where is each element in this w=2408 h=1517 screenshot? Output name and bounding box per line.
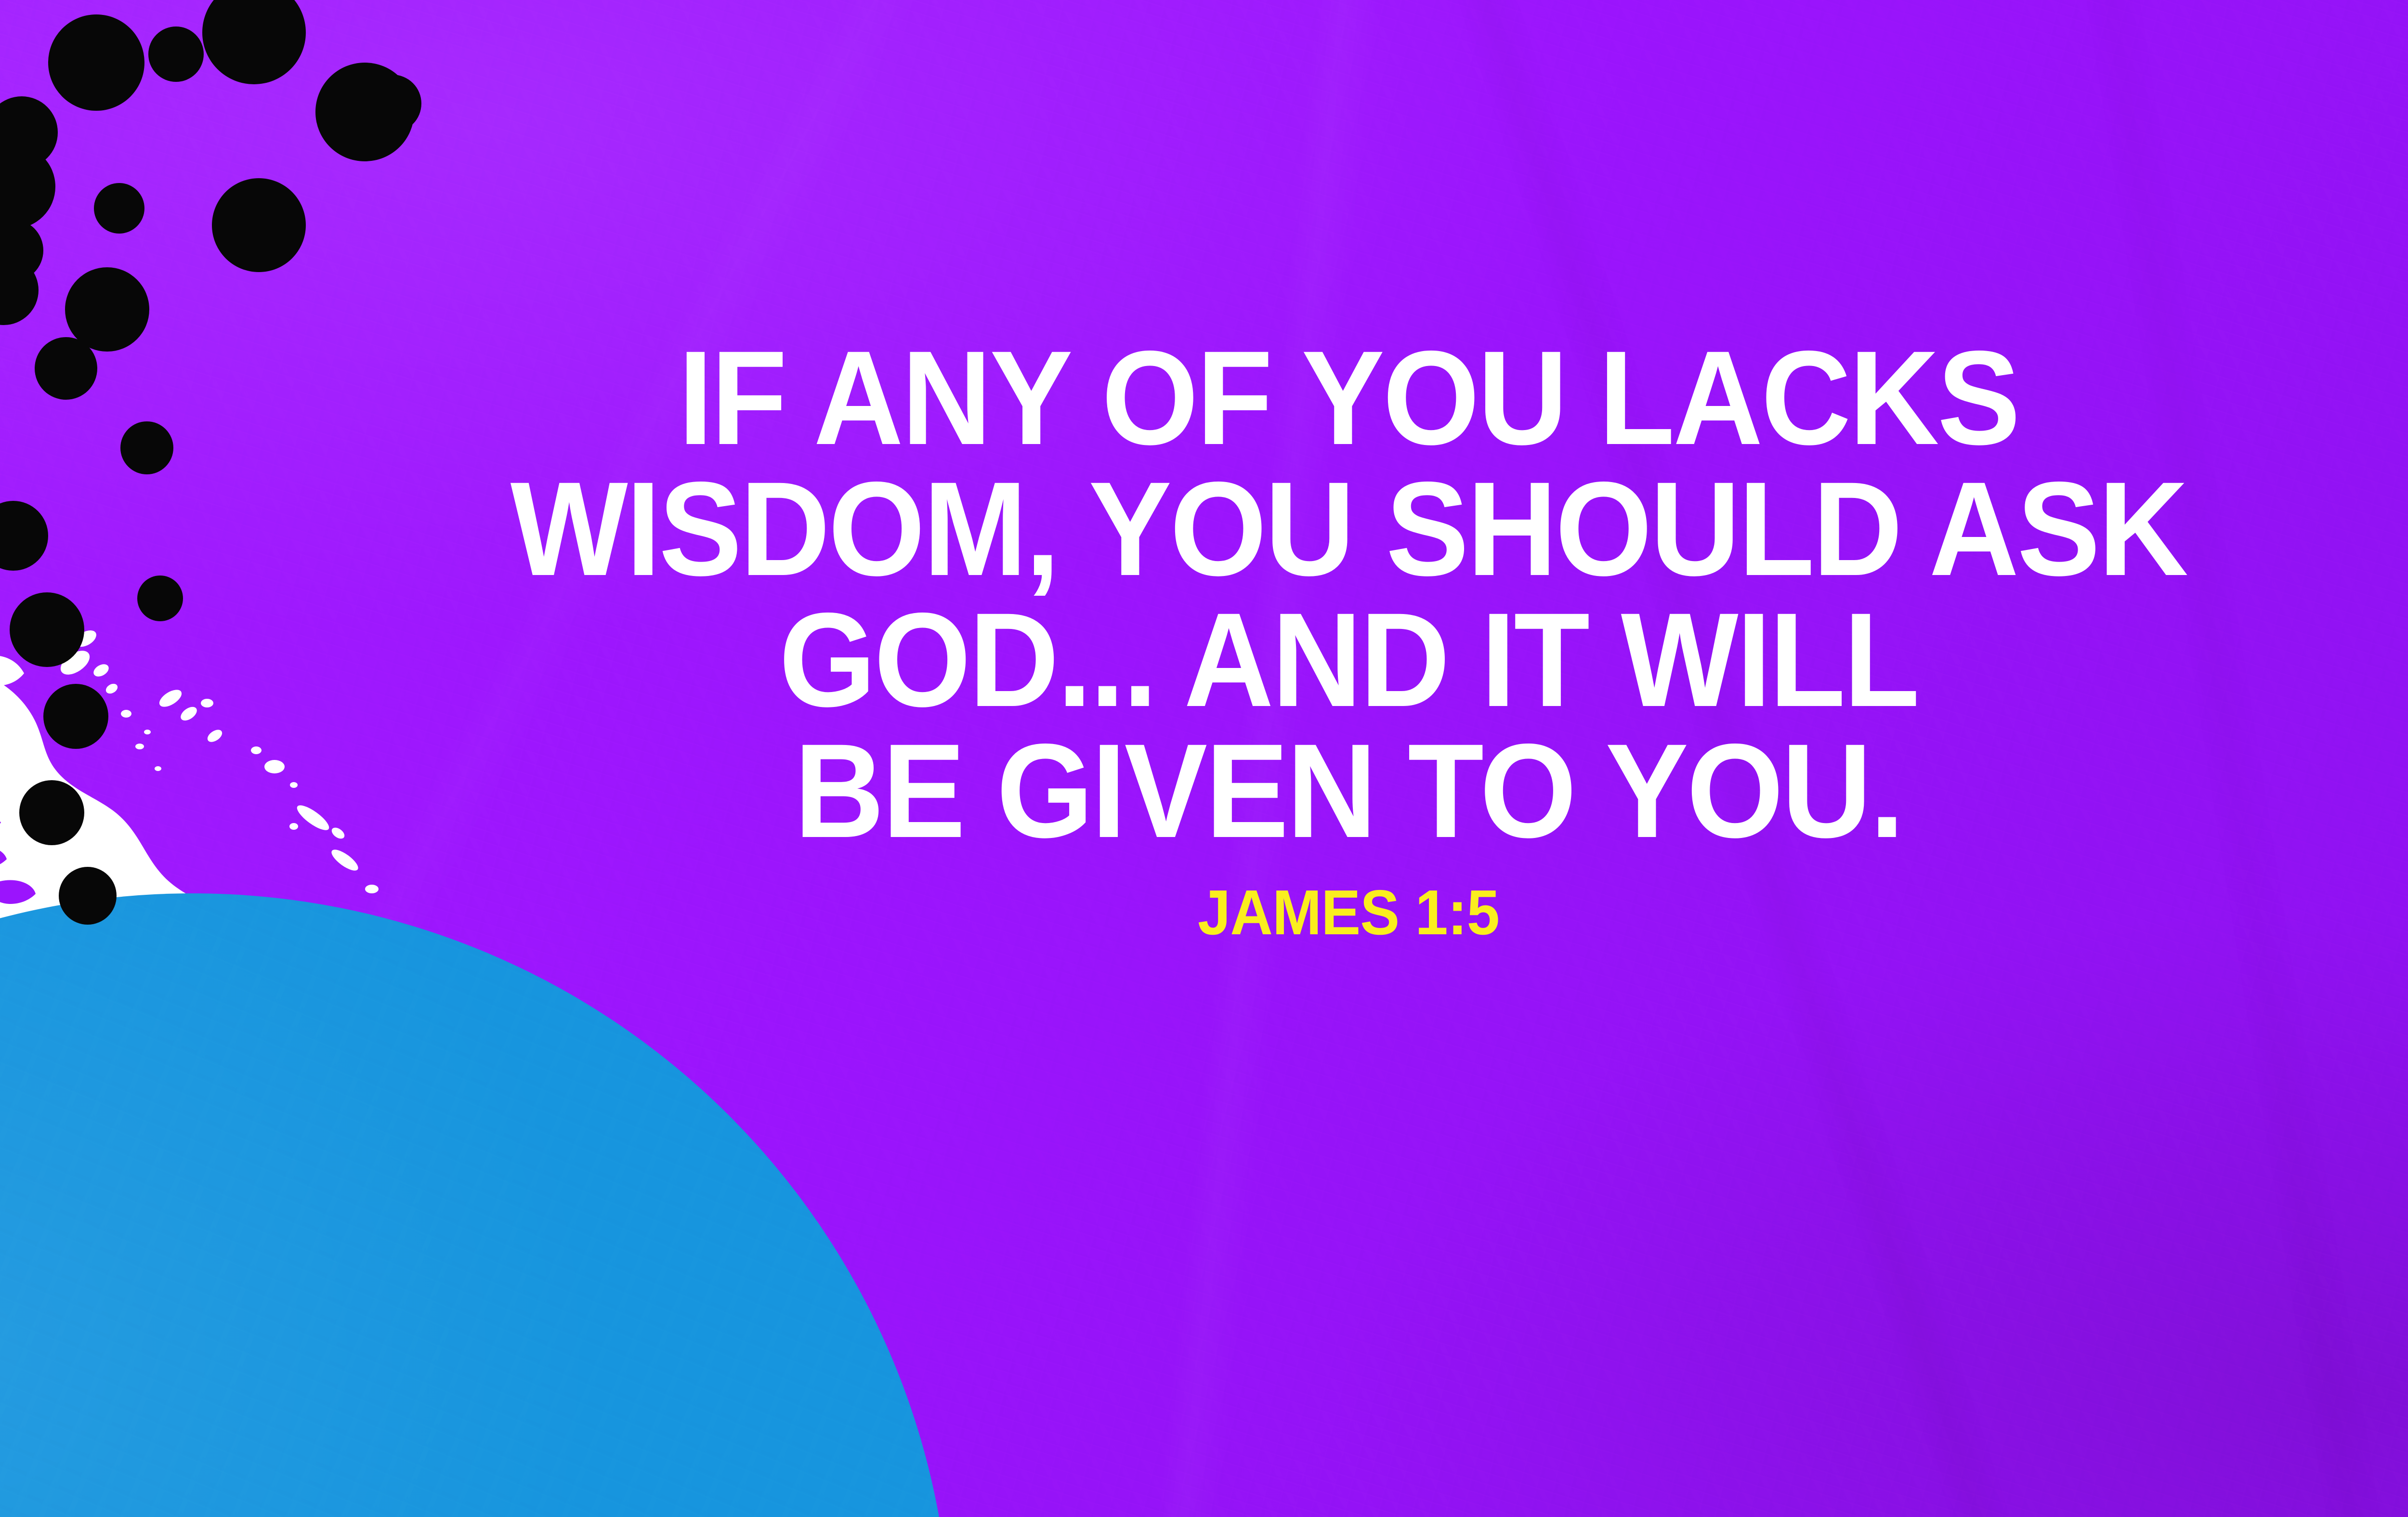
polka-dot — [202, 0, 306, 84]
polka-dot — [212, 178, 306, 272]
poster-canvas: IF ANY OF YOU LACKS WISDOM, YOU SHOULD A… — [0, 0, 2408, 1517]
verse-text-block: IF ANY OF YOU LACKS WISDOM, YOU SHOULD A… — [0, 332, 2408, 949]
verse-line-3: GOD... AND IT WILL — [94, 594, 2408, 725]
verse-line-1: IF ANY OF YOU LACKS — [94, 332, 2408, 463]
polka-dot — [48, 14, 144, 111]
verse-line-4: BE GIVEN TO YOU. — [94, 725, 2408, 856]
polka-dot — [148, 26, 204, 82]
verse-reference: JAMES 1:5 — [94, 876, 2408, 949]
polka-dot — [364, 75, 421, 132]
polka-dot — [0, 219, 43, 282]
polka-dot — [94, 183, 144, 234]
verse-line-2: WISDOM, YOU SHOULD ASK — [94, 463, 2408, 594]
